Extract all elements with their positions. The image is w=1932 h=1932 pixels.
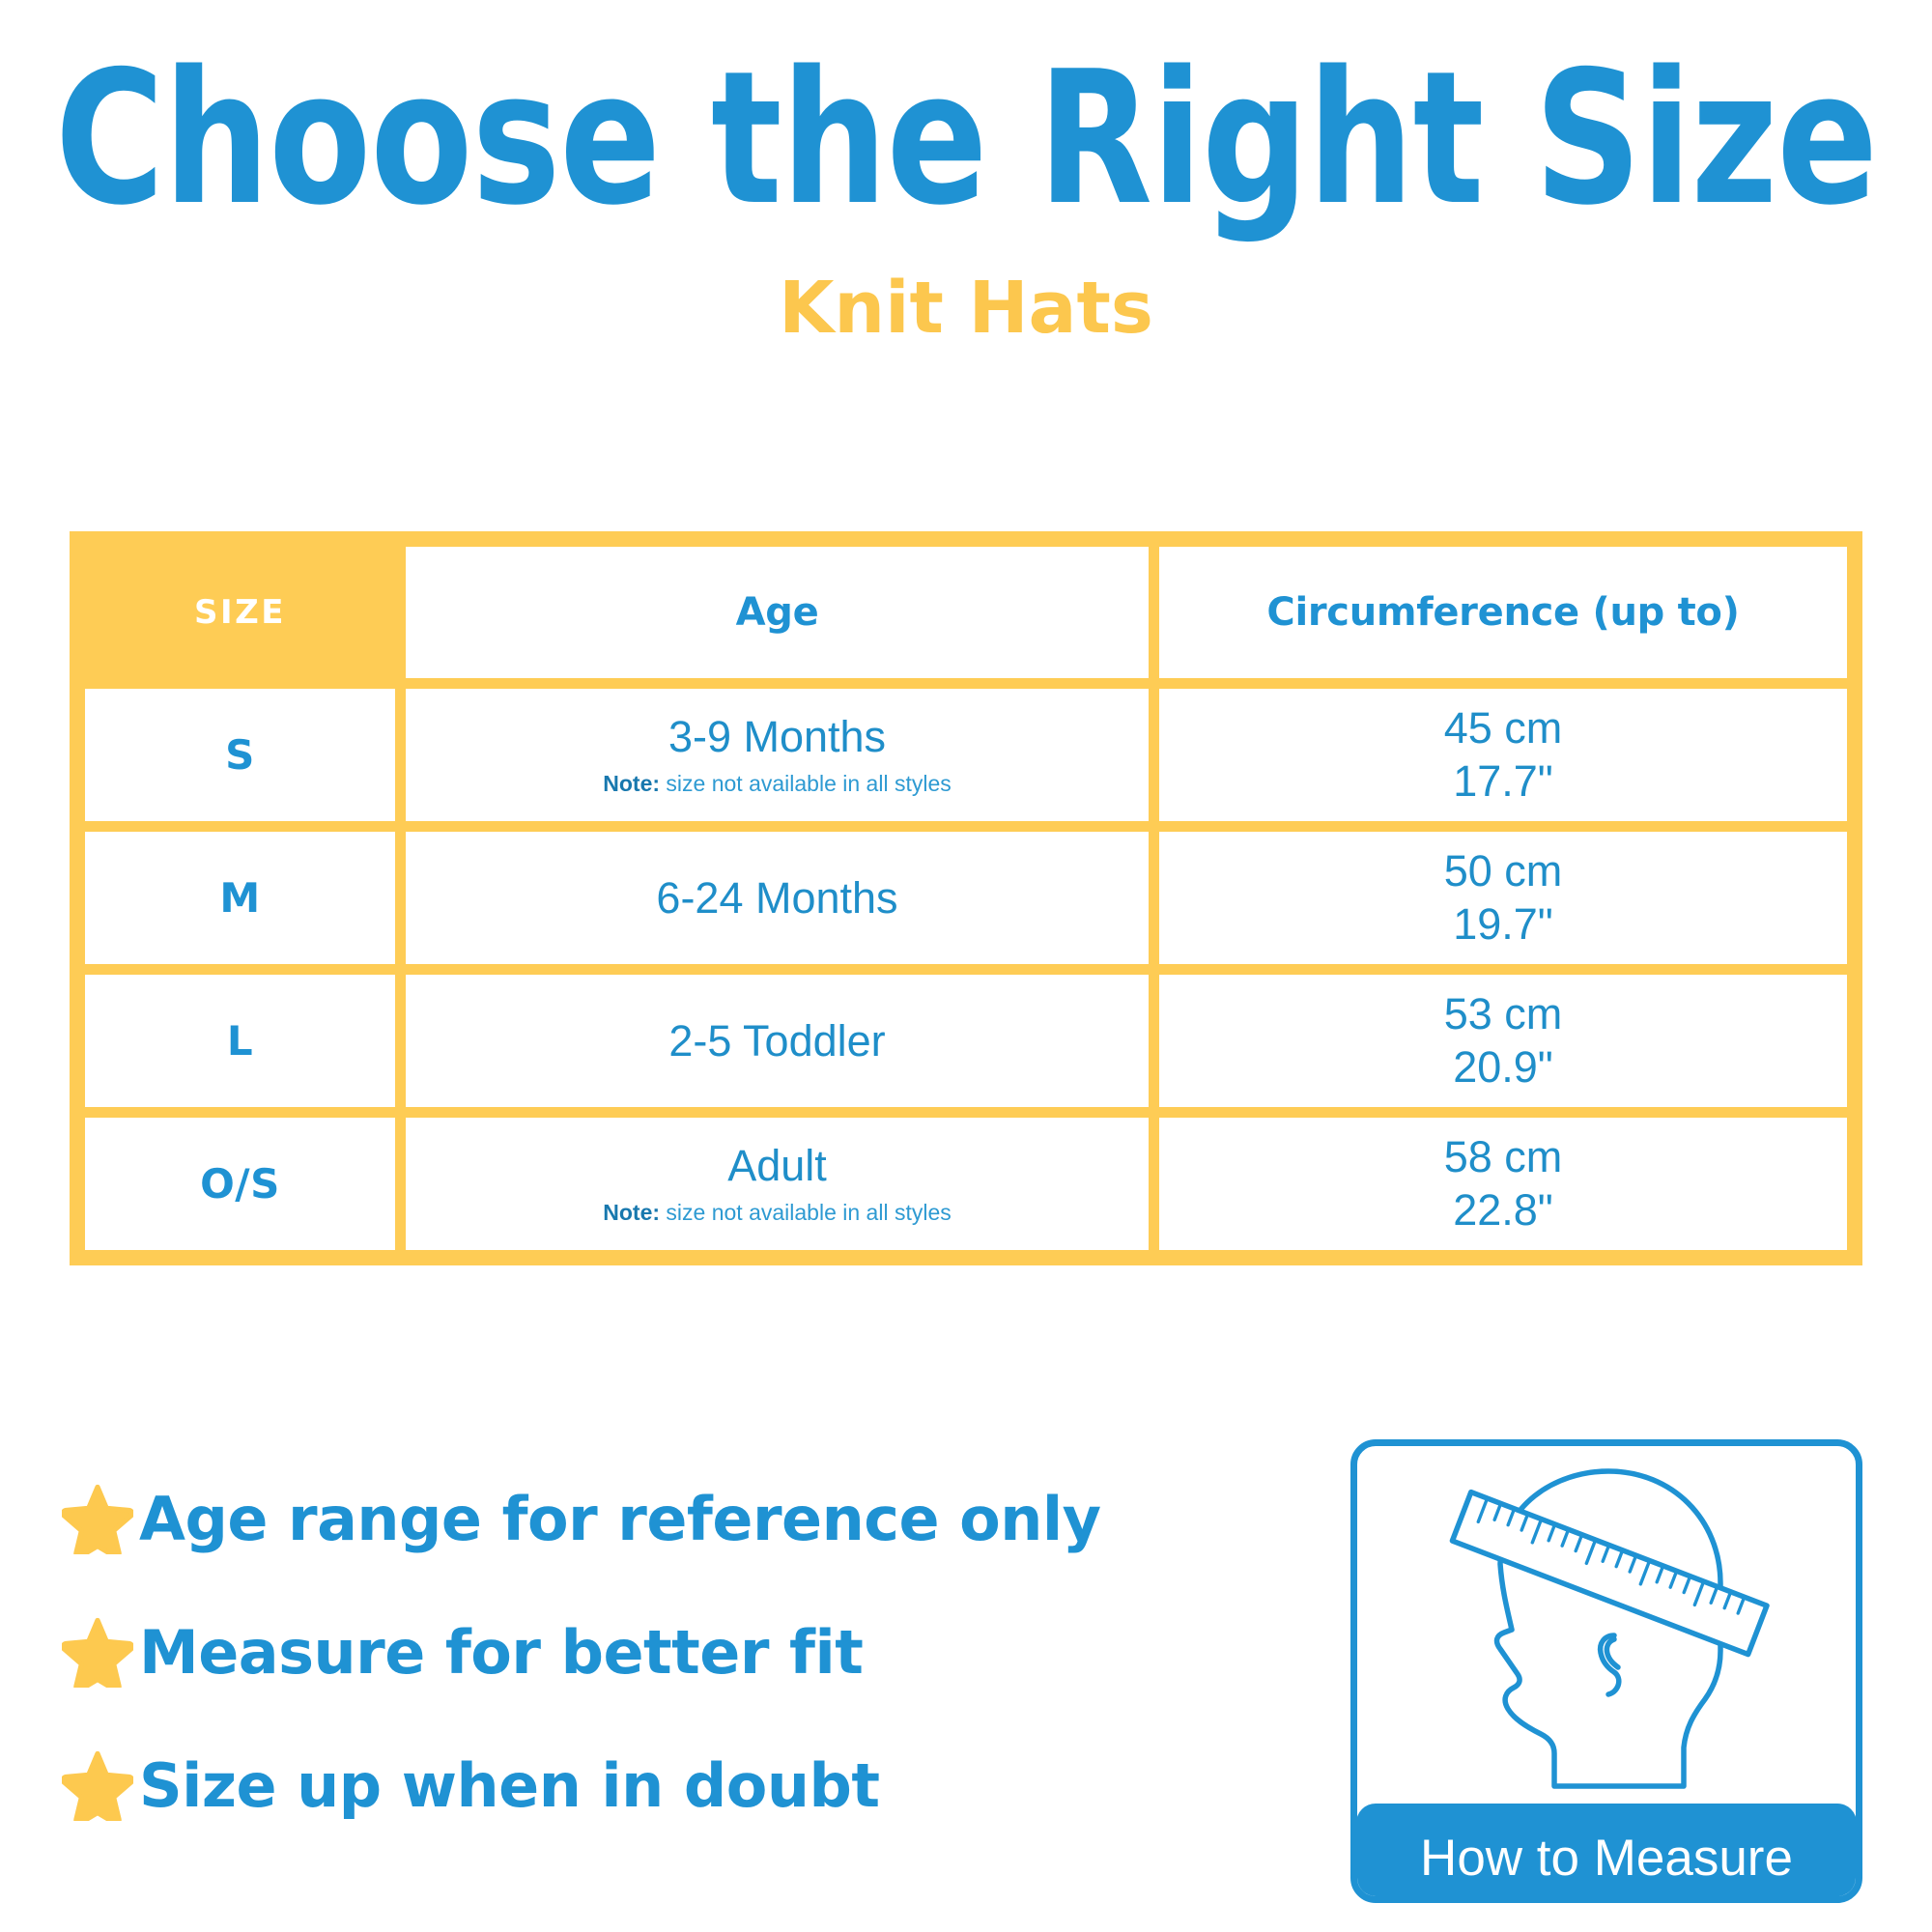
column-header-circumference: Circumference (up to) xyxy=(1266,590,1739,635)
how-to-measure-footer[interactable]: How to Measure xyxy=(1356,1804,1857,1903)
how-to-measure-label: How to Measure xyxy=(1420,1829,1793,1888)
table-row: M 6-24 Months 50 cm 19.7" xyxy=(85,832,1847,964)
size-chart-table: SIZE Age Circumference (up to) S 3-9 Mon… xyxy=(70,531,1862,1265)
tips-list: Age range for reference only Measure for… xyxy=(60,1468,1296,1868)
star-icon xyxy=(60,1614,135,1690)
header-cell-size: SIZE xyxy=(85,547,395,678)
cell-age: Adult Note: size not available in all st… xyxy=(406,1118,1149,1250)
age-label: 6-24 Months xyxy=(656,873,897,923)
cell-age: 6-24 Months xyxy=(406,832,1149,964)
column-header-size: SIZE xyxy=(194,593,286,632)
table-row: O/S Adult Note: size not available in al… xyxy=(85,1118,1847,1250)
tip-label: Age range for reference only xyxy=(139,1484,1101,1554)
title-block: Choose the Right Size Knit Hats xyxy=(0,46,1932,344)
list-item: Age range for reference only xyxy=(60,1468,1296,1569)
list-item: Size up when in doubt xyxy=(60,1735,1296,1835)
cell-size: S xyxy=(85,689,395,821)
header-cell-age: Age xyxy=(406,547,1149,678)
cell-age: 3-9 Months Note: size not available in a… xyxy=(406,689,1149,821)
circumference-in: 20.9" xyxy=(1453,1041,1553,1094)
circumference-in: 22.8" xyxy=(1453,1184,1553,1237)
cell-circumference: 45 cm 17.7" xyxy=(1159,689,1847,821)
circumference-cm: 53 cm xyxy=(1444,988,1563,1041)
tip-label: Measure for better fit xyxy=(139,1617,863,1688)
age-label: Adult xyxy=(727,1141,827,1191)
column-header-age: Age xyxy=(736,590,819,635)
tip-label: Size up when in doubt xyxy=(139,1750,880,1821)
cell-circumference: 53 cm 20.9" xyxy=(1159,975,1847,1107)
note-label: Note: xyxy=(603,1200,660,1225)
table-header-row: SIZE Age Circumference (up to) xyxy=(85,547,1847,678)
age-label: 3-9 Months xyxy=(668,712,886,762)
cell-size: M xyxy=(85,832,395,964)
age-label: 2-5 Toddler xyxy=(668,1016,885,1066)
circumference-in: 17.7" xyxy=(1453,755,1553,809)
cell-circumference: 50 cm 19.7" xyxy=(1159,832,1847,964)
page-title: Choose the Right Size xyxy=(10,46,1922,230)
cell-size: L xyxy=(85,975,395,1107)
table-row: L 2-5 Toddler 53 cm 20.9" xyxy=(85,975,1847,1107)
note-text: size not available in all styles xyxy=(660,771,952,796)
size-label: M xyxy=(219,874,260,922)
circumference-cm: 58 cm xyxy=(1444,1131,1563,1184)
page-subtitle: Knit Hats xyxy=(0,272,1932,344)
size-chart-page: Choose the Right Size Knit Hats SIZE Age… xyxy=(0,0,1932,1932)
cell-size: O/S xyxy=(85,1118,395,1250)
how-to-measure-card[interactable]: How to Measure xyxy=(1350,1439,1862,1903)
age-note: Note: size not available in all styles xyxy=(603,1200,952,1227)
circumference-cm: 45 cm xyxy=(1444,702,1563,755)
header-cell-circumference: Circumference (up to) xyxy=(1159,547,1847,678)
note-label: Note: xyxy=(603,771,660,796)
list-item: Measure for better fit xyxy=(60,1602,1296,1702)
cell-circumference: 58 cm 22.8" xyxy=(1159,1118,1847,1250)
circumference-cm: 50 cm xyxy=(1444,845,1563,898)
star-icon xyxy=(60,1481,135,1556)
size-label: S xyxy=(225,731,255,779)
note-text: size not available in all styles xyxy=(660,1200,952,1225)
circumference-in: 19.7" xyxy=(1453,898,1553,952)
size-label: L xyxy=(227,1017,253,1065)
size-label: O/S xyxy=(200,1160,280,1207)
table-row: S 3-9 Months Note: size not available in… xyxy=(85,689,1847,821)
star-icon xyxy=(60,1747,135,1823)
age-note: Note: size not available in all styles xyxy=(603,771,952,798)
cell-age: 2-5 Toddler xyxy=(406,975,1149,1107)
head-measure-illustration xyxy=(1357,1446,1856,1804)
